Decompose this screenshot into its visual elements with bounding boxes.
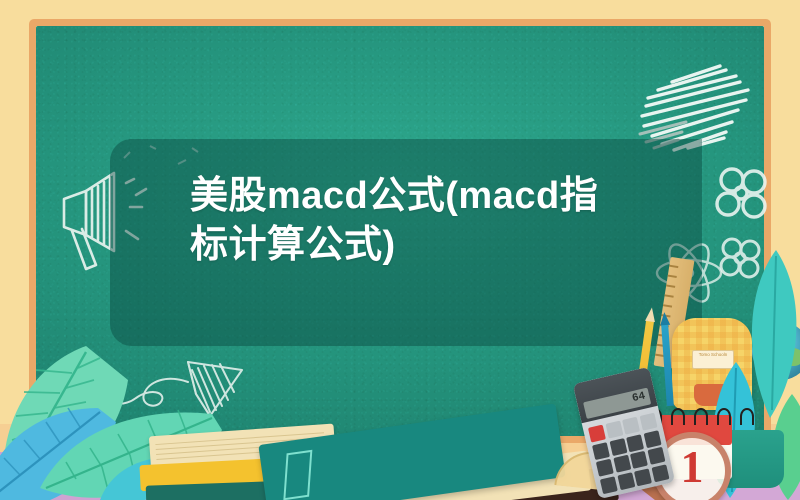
page-title: 美股macd公式(macd指标计算公式) bbox=[190, 172, 620, 269]
calendar-rings bbox=[648, 408, 754, 425]
cover-image: 美股macd公式(macd指标计算公式) bbox=[0, 0, 800, 500]
bookmark-shape bbox=[283, 450, 312, 500]
calculator-keypad bbox=[588, 413, 670, 495]
